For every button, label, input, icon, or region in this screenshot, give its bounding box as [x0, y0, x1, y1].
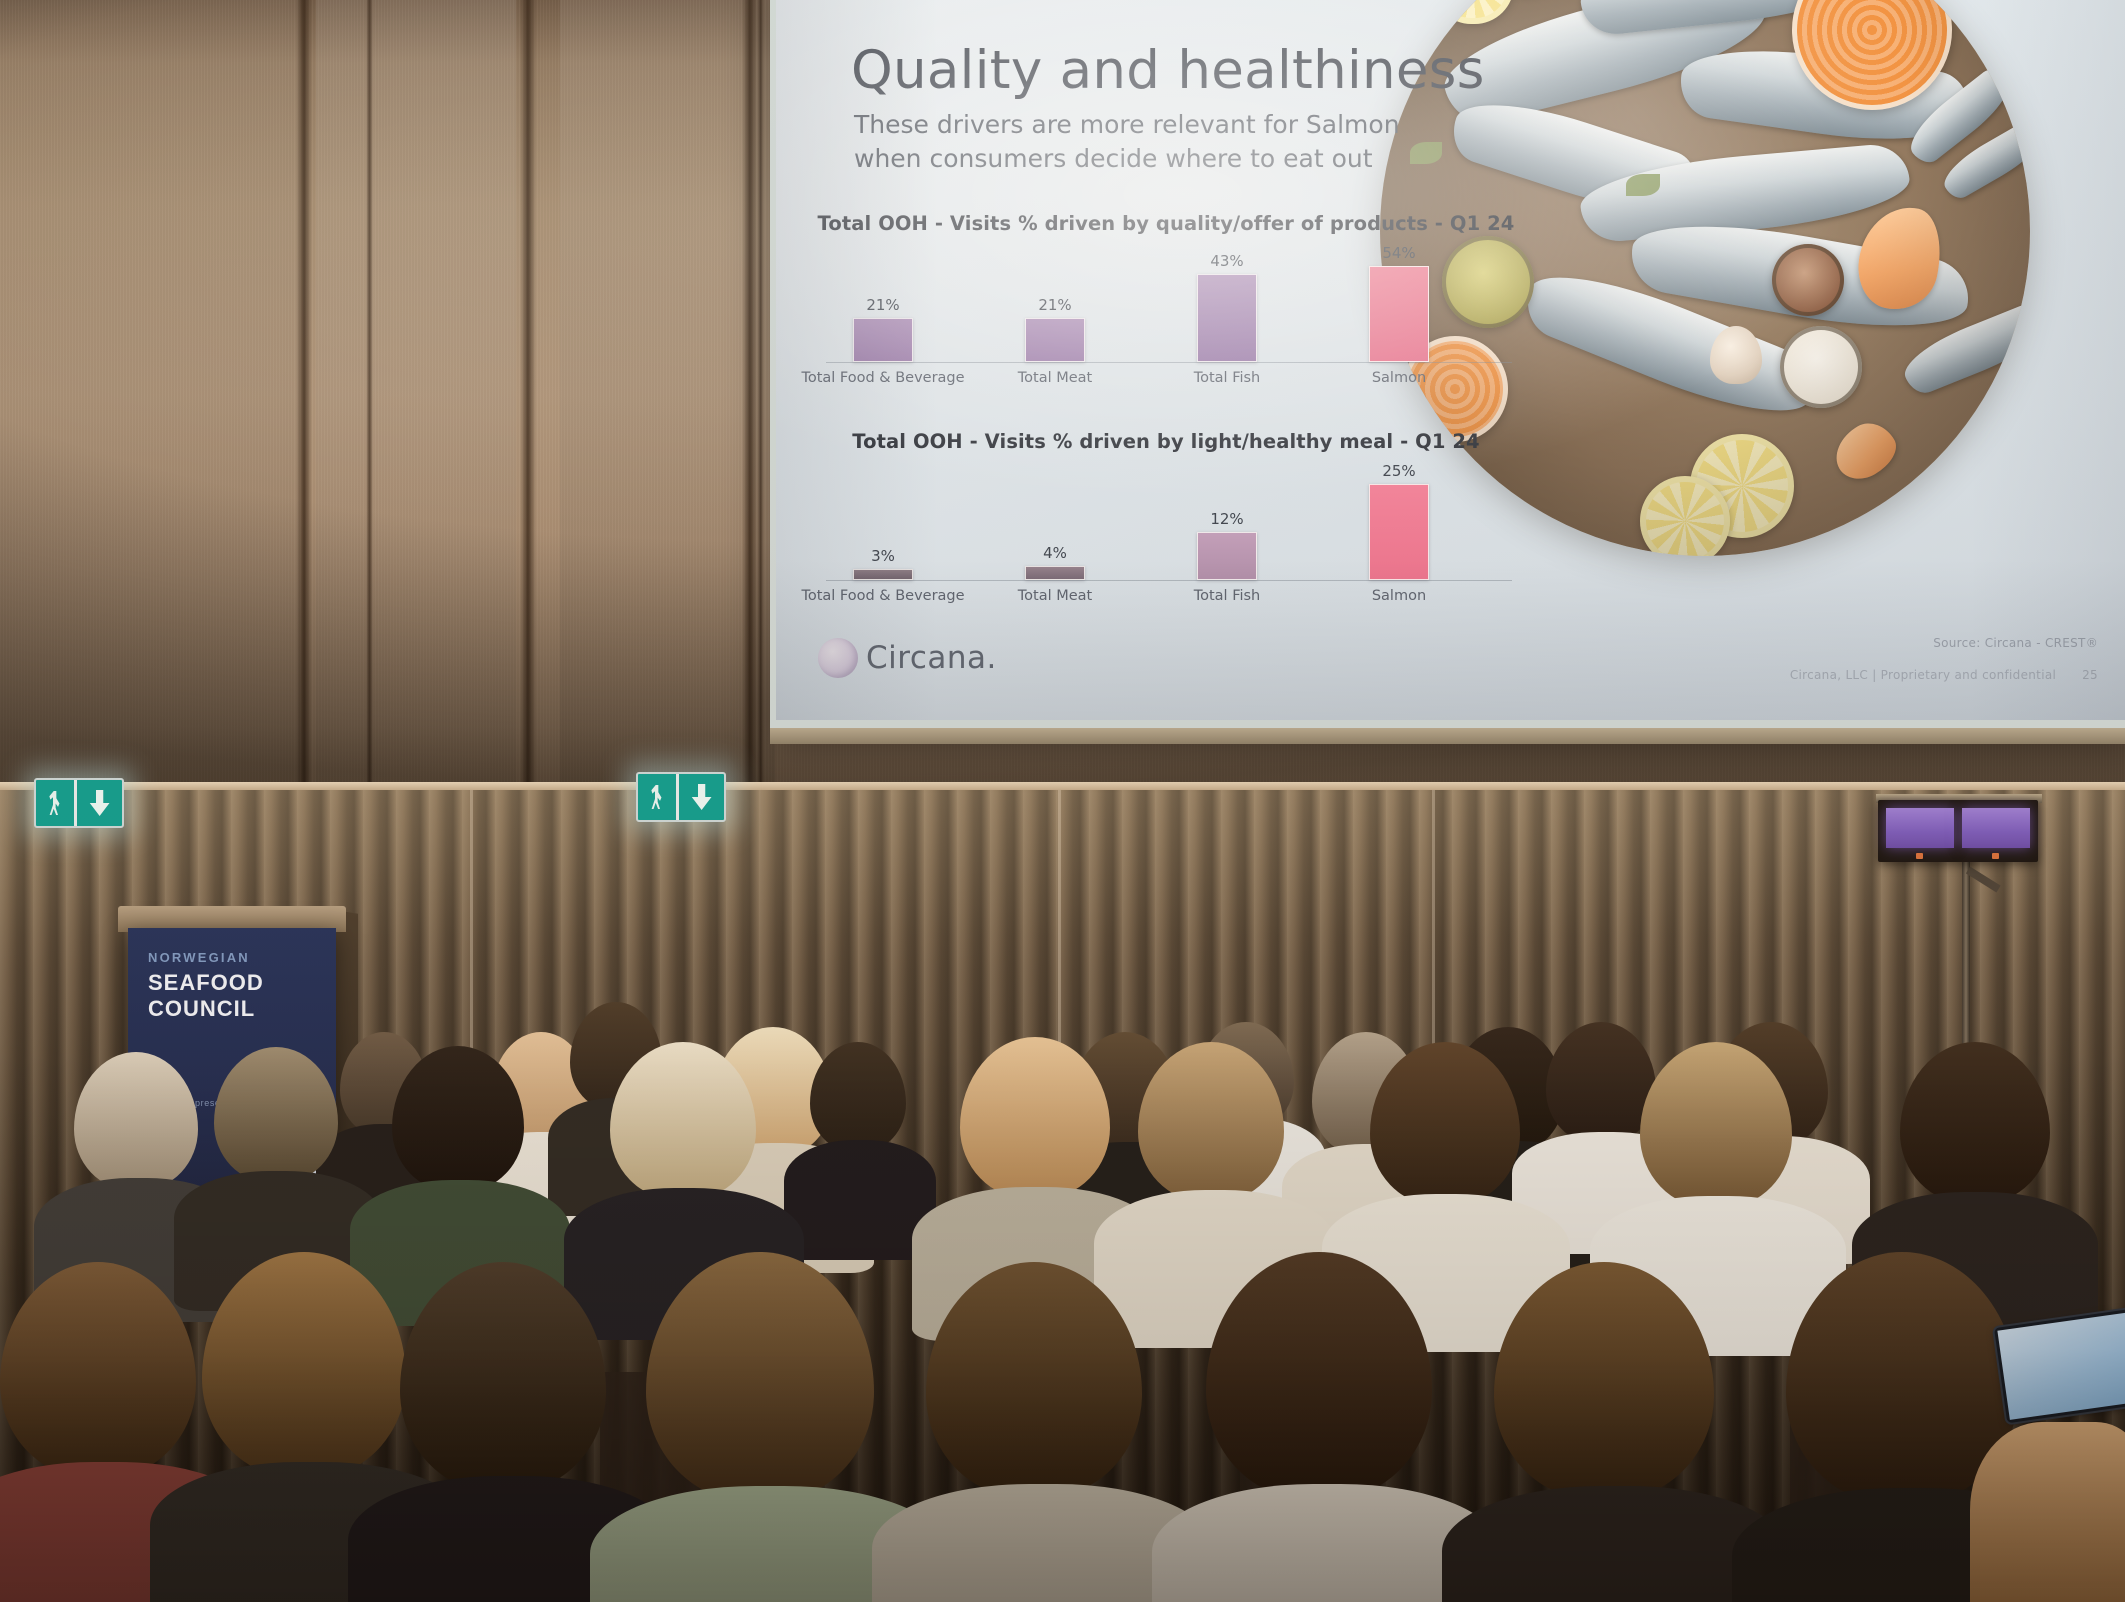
circana-mark-icon — [818, 638, 858, 678]
chart-1-axis — [826, 362, 1512, 363]
running-man-icon — [638, 774, 676, 820]
down-arrow-icon — [77, 780, 122, 826]
head — [926, 1262, 1142, 1498]
chart-1-category-1: Total Meat — [970, 370, 1140, 386]
audience-member — [800, 1042, 920, 1242]
confidential-text: Circana, LLC | Proprietary and confident… — [1790, 668, 2056, 682]
chart-2-bar-2 — [1197, 532, 1257, 580]
chart-2-bar-1 — [1025, 566, 1085, 580]
chart-2-value-1: 4% — [1043, 544, 1067, 562]
chart-2-bar-0 — [853, 569, 913, 580]
head — [1494, 1262, 1714, 1500]
chart-2-plot: 3% 4% 12% 25% — [816, 461, 1516, 581]
chart-1-value-0: 21% — [866, 296, 899, 314]
chart-1-bar-2 — [1197, 274, 1257, 362]
chart-2-title: Total OOH - Visits % driven by light/hea… — [816, 430, 1516, 453]
slide-source-note: Source: Circana - CREST® — [1933, 636, 2098, 650]
chart-2-category-2: Total Fish — [1142, 588, 1312, 604]
head — [1206, 1252, 1432, 1500]
conference-room-photo: Quality and healthiness These drivers ar… — [0, 0, 2125, 1602]
chart-2-axis — [826, 580, 1512, 581]
head — [202, 1252, 406, 1478]
head — [0, 1262, 196, 1478]
head — [1900, 1042, 2050, 1204]
down-arrow-icon — [679, 774, 724, 820]
head — [1640, 1042, 1792, 1208]
chart-1-bar-group-1: 21% — [1010, 244, 1100, 362]
confidence-monitor — [1878, 800, 2038, 862]
exit-sign-left — [34, 778, 124, 828]
slide-confidential-note: Circana, LLC | Proprietary and confident… — [1790, 668, 2098, 682]
arm — [1970, 1422, 2125, 1602]
podium-kicker: NORWEGIAN — [148, 950, 250, 965]
chart-1-bar-group-3: 54% — [1354, 244, 1444, 362]
chart-1-value-1: 21% — [1038, 296, 1071, 314]
chart-1-value-3: 54% — [1382, 244, 1415, 262]
chart-2-category-row: Total Food & Beverage Total Meat Total F… — [816, 584, 1516, 610]
head — [810, 1042, 906, 1152]
monitor-screen-right — [1962, 808, 2030, 848]
chart-1-bar-group-2: 43% — [1182, 244, 1272, 362]
podium-title: SEAFOOD COUNCIL — [148, 970, 336, 1022]
running-man-icon — [36, 780, 74, 826]
monitor-led-right — [1992, 853, 1999, 859]
screen-bottom-bar — [770, 728, 2125, 744]
chart-1-plot: 21% 21% 43% 54% — [816, 243, 1516, 363]
chart-1-bar-group-0: 21% — [838, 244, 928, 362]
chart-2-value-0: 3% — [871, 547, 895, 565]
chart-1-bar-1 — [1025, 318, 1085, 362]
head — [214, 1047, 338, 1183]
audience-member — [900, 1262, 1180, 1602]
head — [392, 1046, 524, 1192]
chart-1-category-0: Total Food & Beverage — [798, 370, 968, 386]
chart-1-category-3: Salmon — [1314, 370, 1484, 386]
head — [610, 1042, 756, 1200]
chart-2-bar-group-1: 4% — [1010, 462, 1100, 580]
circana-logo: Circana. — [818, 638, 997, 678]
chart-2-bar-3 — [1369, 484, 1429, 580]
chart-2-value-2: 12% — [1210, 510, 1243, 528]
projection-screen: Quality and healthiness These drivers ar… — [776, 0, 2125, 720]
slide-title: Quality and healthiness — [851, 40, 1485, 101]
exit-sign-right — [636, 772, 726, 822]
chart-2-bar-group-2: 12% — [1182, 462, 1272, 580]
chart-1-value-2: 43% — [1210, 252, 1243, 270]
chart-2-bar-group-3: 25% — [1354, 462, 1444, 580]
slide-page-number: 25 — [2082, 668, 2098, 682]
chart-1-title: Total OOH - Visits % driven by quality/o… — [816, 212, 1516, 235]
chart-2-category-1: Total Meat — [970, 588, 1140, 604]
audience-member — [1180, 1252, 1470, 1602]
chart-2-value-3: 25% — [1382, 462, 1415, 480]
audience-member-hand — [1970, 1382, 2125, 1602]
head — [400, 1262, 606, 1492]
head — [1370, 1042, 1520, 1206]
chart-2: Total OOH - Visits % driven by light/hea… — [816, 430, 1516, 610]
slide-subtitle: These drivers are more relevant for Salm… — [854, 108, 1454, 176]
monitor-screen-left — [1886, 808, 1954, 848]
head — [960, 1037, 1110, 1199]
chart-2-category-0: Total Food & Beverage — [798, 588, 968, 604]
chart-2-bar-group-0: 3% — [838, 462, 928, 580]
head — [74, 1052, 198, 1190]
chart-1-category-2: Total Fish — [1142, 370, 1312, 386]
chart-1: Total OOH - Visits % driven by quality/o… — [816, 212, 1516, 392]
chart-1-category-row: Total Food & Beverage Total Meat Total F… — [816, 366, 1516, 392]
audience — [0, 1042, 2125, 1602]
circana-logo-text: Circana. — [866, 640, 997, 676]
chart-2-category-3: Salmon — [1314, 588, 1484, 604]
monitor-led-left — [1916, 853, 1923, 859]
audience-member — [1470, 1262, 1750, 1602]
chart-1-bar-0 — [853, 318, 913, 362]
head — [646, 1252, 874, 1502]
head — [1138, 1042, 1284, 1202]
chart-1-bar-3 — [1369, 266, 1429, 362]
